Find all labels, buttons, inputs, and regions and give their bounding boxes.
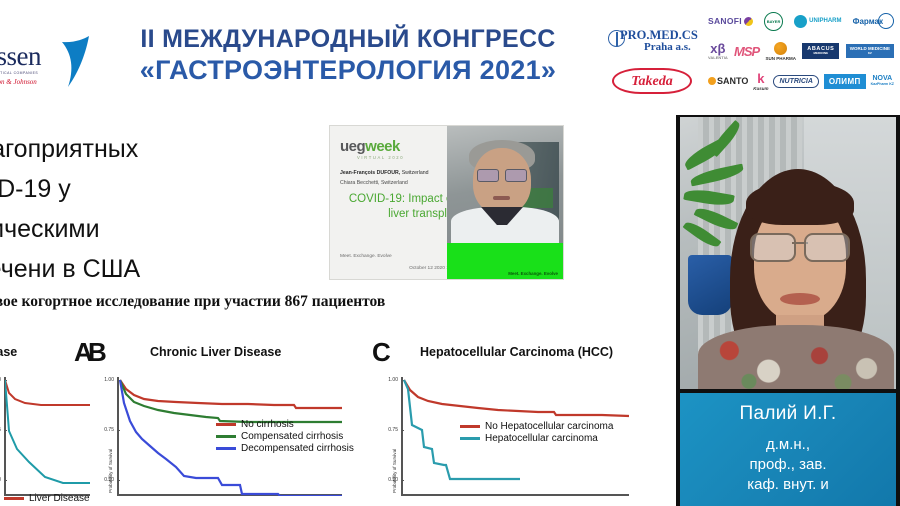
ueg-logo-week: week bbox=[365, 138, 400, 155]
speaker-fringe bbox=[746, 181, 854, 225]
sponsor-logo-msp: MSP bbox=[734, 44, 759, 59]
congress-title: II МЕЖДУНАРОДНЫЙ КОНГРЕСС «ГАСТРОЭНТЕРОЛ… bbox=[108, 24, 588, 86]
promed-line2: Praha a.s. bbox=[644, 41, 691, 53]
speaker-floral-blouse bbox=[698, 325, 894, 389]
panel-a-legend-label-1: Liver Disease bbox=[29, 493, 90, 504]
panel-b-legend-swatch-1 bbox=[216, 423, 236, 425]
panel-b-legend-label-1: No cirrhosis bbox=[241, 419, 294, 430]
sponsor-label-bayer: BAYER bbox=[767, 19, 781, 24]
sponsor-label-santo: SANTO bbox=[717, 76, 748, 86]
unipharm-mark-icon bbox=[794, 15, 807, 28]
plant-pot bbox=[688, 255, 732, 315]
sponsor-label-unipharm: UNIPHARM bbox=[809, 18, 841, 24]
congress-title-line2: «ГАСТРОЭНТЕРОЛОГИЯ 2021» bbox=[108, 54, 588, 86]
panel-a-ytick-2: 0.75 bbox=[0, 427, 4, 433]
kusum-mark-icon: k bbox=[757, 71, 764, 86]
sponsor-logo-bayer: BAYER bbox=[764, 12, 783, 31]
sponsor-logo-santo: SANTO bbox=[708, 76, 748, 86]
janssen-logo: anssen PHARMACEUTICAL COMPANIES of Johns… bbox=[0, 33, 102, 91]
panel-c-legend-swatch-1 bbox=[460, 425, 480, 427]
panel-c-legend-label-1: No Hepatocellular carcinoma bbox=[485, 421, 613, 432]
panel-c-legend-item-1: No Hepatocellular carcinoma bbox=[460, 421, 613, 432]
panel-a-title: Disease bbox=[0, 345, 17, 359]
panel-a-ytick-3: 0.50 bbox=[0, 477, 4, 483]
takeda-label: Takeda bbox=[614, 74, 690, 90]
speaker-name-plate: Палий И.Г. д.м.н., проф., зав. каф. внут… bbox=[680, 393, 896, 506]
panel-a-curves bbox=[5, 377, 90, 496]
speaker-webcam-panel[interactable]: Палий И.Г. д.м.н., проф., зав. каф. внут… bbox=[676, 115, 900, 506]
slide-heading: неблагоприятных COVID-19 у хроническими … bbox=[0, 129, 276, 289]
speaker-role-line-1: д.м.н., bbox=[680, 435, 896, 455]
sponsor-label-nutricia: NUTRICIA bbox=[779, 78, 812, 85]
janssen-swoosh-icon bbox=[60, 36, 90, 88]
panel-b-legend-item-1: No cirrhosis bbox=[216, 419, 354, 430]
glasses-bridge bbox=[792, 242, 808, 244]
kaplan-meier-figure-row: A Disease 1.00 0.75 0.50 Probability of … bbox=[0, 333, 676, 506]
sponsor-logo-world-medicine: WORLD MEDICINE KZ bbox=[846, 44, 894, 58]
panel-b-legend-swatch-3 bbox=[216, 447, 236, 449]
sponsor-sub-abacus: MEDICINE bbox=[814, 52, 829, 55]
panel-c-letter: C bbox=[372, 337, 391, 368]
santo-mark-icon bbox=[708, 77, 716, 85]
chart-panel-a: A Disease 1.00 0.75 0.50 Probability of … bbox=[0, 333, 90, 506]
sponsor-row-2: xβ VALENTIA MSP SUN PHARMA ABACUS MEDICI… bbox=[706, 36, 896, 66]
sponsor-logo-unipharm: UNIPHARM bbox=[794, 15, 841, 28]
speaker-name: Палий И.Г. bbox=[680, 403, 896, 425]
panel-a-legend-swatch-1 bbox=[4, 497, 24, 499]
panel-b-ytick-2: 0.75 bbox=[104, 427, 117, 433]
panel-a-ytick-1: 1.00 bbox=[0, 377, 4, 383]
sun-orb-icon bbox=[774, 42, 787, 55]
ueg-author-1-name: Jean-François DUFOUR, bbox=[340, 170, 400, 176]
ueg-week-wordmark: uegweek bbox=[340, 138, 404, 155]
ueg-footer-tagline: Meet. Exchange. Evolve bbox=[340, 254, 392, 259]
sponsor-logo-grid: SANOFI BAYER UNIPHARM Фармак xβ VALENTIA bbox=[706, 6, 896, 102]
janssen-tagline: PHARMACEUTICAL COMPANIES bbox=[0, 71, 38, 75]
speaker-role-line-2: проф., зав. bbox=[680, 455, 896, 475]
slide-subtitle: нтровое когортное исследование при участ… bbox=[0, 293, 385, 311]
panel-b-legend-item-2: Compensated cirrhosis bbox=[216, 431, 354, 442]
panel-c-legend-swatch-2 bbox=[460, 437, 480, 439]
panel-c-title: Hepatocellular Carcinoma (HCC) bbox=[420, 345, 613, 359]
panel-b-legend-label-2: Compensated cirrhosis bbox=[241, 431, 343, 442]
panel-a-legend-item-1: Liver Disease bbox=[4, 493, 90, 504]
takeda-logo: Takeda bbox=[612, 68, 692, 94]
speaker-role: д.м.н., проф., зав. каф. внут. и bbox=[680, 435, 896, 495]
ueg-presenter-webcam: Meet. Exchange. Evolve bbox=[447, 126, 563, 280]
ueg-author-2: Chiara Becchetti, Switzerland bbox=[340, 180, 429, 186]
sponsor-label-msp: MSP bbox=[734, 44, 759, 59]
promed-cs-logo: PRO.MED.CS Praha a.s. bbox=[604, 28, 700, 58]
congress-header-banner: anssen PHARMACEUTICAL COMPANIES of Johns… bbox=[0, 0, 900, 115]
panel-c-legend: No Hepatocellular carcinoma Hepatocellul… bbox=[460, 421, 613, 445]
ueg-logo-ueg: ueg bbox=[340, 138, 365, 155]
sanofi-mark-icon bbox=[744, 17, 753, 26]
ueg-overlay-tagline: Meet. Exchange. Evolve bbox=[508, 271, 558, 276]
sponsor-logo-sanofi: SANOFI bbox=[708, 16, 753, 26]
panel-b-ytick-1: 1.00 bbox=[104, 377, 117, 383]
janssen-parent-brand: of Johnson & Johnson bbox=[0, 78, 37, 86]
ueg-week-logo: uegweek VIRTUAL 2020 bbox=[340, 138, 404, 160]
panel-b-legend: No cirrhosis Compensated cirrhosis Decom… bbox=[216, 419, 354, 455]
sponsor-logo-nova: NOVA KazPharm KZ bbox=[871, 75, 894, 87]
panel-c-ytick-1: 1.00 bbox=[388, 377, 401, 383]
chart-panel-b: B Chronic Liver Disease 1.00 0.75 0.50 P… bbox=[88, 333, 378, 506]
panel-a-legend: Liver Disease bbox=[4, 493, 90, 505]
panel-b-letter: B bbox=[88, 337, 107, 368]
webinar-stream-frame: anssen PHARMACEUTICAL COMPANIES of Johns… bbox=[0, 0, 900, 506]
panel-c-legend-item-2: Hepatocellular carcinoma bbox=[460, 433, 613, 444]
ueg-presenter-mouth bbox=[493, 196, 510, 200]
presentation-slide: неблагоприятных COVID-19 у хроническими … bbox=[0, 115, 676, 506]
slide-heading-line-4: ми печени в США bbox=[0, 249, 276, 289]
sponsor-label-sun: SUN PHARMA bbox=[765, 56, 796, 61]
sponsor-logo-kusum: k Kusum bbox=[753, 71, 768, 91]
sponsor-logo-olimp: ОЛИМП bbox=[824, 74, 866, 89]
sponsor-sub-world-medicine: KZ bbox=[868, 52, 872, 55]
sponsor-logo-nutricia: NUTRICIA bbox=[773, 75, 818, 88]
speaker-glasses-icon bbox=[750, 233, 850, 259]
speaker-role-line-3: каф. внут. и bbox=[680, 475, 896, 495]
ueg-green-overlay-bar: Meet. Exchange. Evolve bbox=[447, 243, 563, 280]
sponsor-logo-abacus: ABACUS MEDICINE bbox=[802, 43, 839, 58]
sponsor-logo-farmak: Фармак bbox=[853, 13, 894, 29]
valenta-mark-icon: xβ bbox=[710, 42, 725, 55]
sponsor-label-sanofi: SANOFI bbox=[708, 16, 742, 26]
sponsor-logo-valenta: xβ VALENTIA bbox=[708, 42, 728, 60]
panel-b-title: Chronic Liver Disease bbox=[150, 345, 281, 359]
congress-title-line1: II МЕЖДУНАРОДНЫЙ КОНГРЕСС bbox=[108, 24, 588, 54]
janssen-wordmark: anssen bbox=[0, 41, 41, 72]
farmak-arc-icon bbox=[878, 13, 894, 29]
sponsor-logo-sun: SUN PHARMA bbox=[765, 42, 796, 61]
speaker-video-feed bbox=[680, 117, 896, 389]
sponsor-label-valenta: VALENTIA bbox=[708, 56, 728, 60]
panel-b-legend-item-3: Decompensated cirrhosis bbox=[216, 443, 354, 454]
sponsor-sub-nova: KazPharm KZ bbox=[871, 83, 894, 87]
sponsor-row-3: SANTO k Kusum NUTRICIA ОЛИМП NOVA KazPha… bbox=[706, 66, 896, 96]
panel-c-legend-label-2: Hepatocellular carcinoma bbox=[485, 433, 598, 444]
ueg-author-1-country: Switzerland bbox=[402, 170, 429, 176]
panel-c-ytick-2: 0.75 bbox=[388, 427, 401, 433]
slide-heading-line-3: хроническими bbox=[0, 209, 276, 249]
slide-heading-line-1: неблагоприятных bbox=[0, 129, 276, 169]
sponsor-label-olimp: ОЛИМП bbox=[829, 77, 861, 86]
panel-c-y-label: Probability of Survival bbox=[392, 449, 397, 493]
ueg-authors: Jean-François DUFOUR, Switzerland Chiara… bbox=[340, 170, 429, 186]
ueg-logo-virtual: VIRTUAL 2020 bbox=[357, 155, 404, 160]
panel-b-y-label: Probability of Survival bbox=[108, 449, 113, 493]
panel-b-legend-swatch-2 bbox=[216, 435, 236, 437]
ueg-presenter-glasses-icon bbox=[477, 169, 527, 180]
promed-takeda-logo-group: PRO.MED.CS Praha a.s. Takeda bbox=[604, 28, 700, 58]
sponsor-row-1: SANOFI BAYER UNIPHARM Фармак bbox=[706, 6, 896, 36]
panel-b-legend-label-3: Decompensated cirrhosis bbox=[241, 443, 354, 454]
slide-heading-line-2: COVID-19 у bbox=[0, 169, 276, 209]
chart-panel-c: C Hepatocellular Carcinoma (HCC) 1.00 0.… bbox=[372, 333, 672, 506]
ueg-author-1: Jean-François DUFOUR, Switzerland bbox=[340, 170, 429, 176]
speaker-lips bbox=[780, 293, 820, 305]
ueg-week-video-thumbnail[interactable]: uegweek VIRTUAL 2020 Jean-François DUFOU… bbox=[329, 125, 564, 280]
sponsor-label-kusum: Kusum bbox=[753, 86, 768, 91]
panel-a-axes: 1.00 0.75 0.50 Probability of Survival bbox=[4, 377, 90, 496]
bayer-cross-icon: BAYER bbox=[764, 12, 783, 31]
